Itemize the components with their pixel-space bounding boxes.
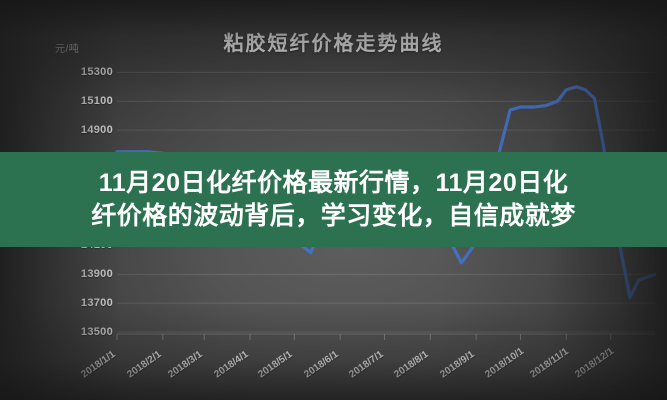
x-axis-tick-label: 2018/1/1 [79, 349, 117, 380]
x-axis-tick-label: 2018/4/1 [212, 349, 250, 380]
x-axis-tick-label: 2018/6/1 [302, 349, 340, 380]
x-axis-tick-label: 2018/5/1 [257, 349, 295, 380]
x-axis-tick-label: 2018/12/1 [573, 346, 616, 381]
headline-line-1: 11月20日化纤价格最新行情，11月20日化 [99, 167, 568, 200]
x-axis-tick-label: 2018/10/1 [483, 346, 526, 381]
headline-overlay-banner: 11月20日化纤价格最新行情，11月20日化 纤价格的波动背后，学习变化，自信成… [0, 152, 667, 247]
x-axis-tick-label: 2018/7/1 [347, 349, 385, 380]
x-axis-tick-label: 2018/8/1 [393, 349, 431, 380]
screenshot-root: 粘胶短纤价格走势曲线 元/吨 1530015100149001470014500… [0, 0, 667, 400]
x-axis-tick-label: 2018/3/1 [167, 349, 205, 380]
x-axis-tick-label: 2018/9/1 [438, 349, 476, 380]
x-axis-tick-label: 2018/2/1 [125, 349, 163, 380]
x-axis-tick-label: 2018/11/1 [529, 346, 571, 380]
headline-line-2: 纤价格的波动背后，学习变化，自信成就梦 [91, 200, 576, 233]
